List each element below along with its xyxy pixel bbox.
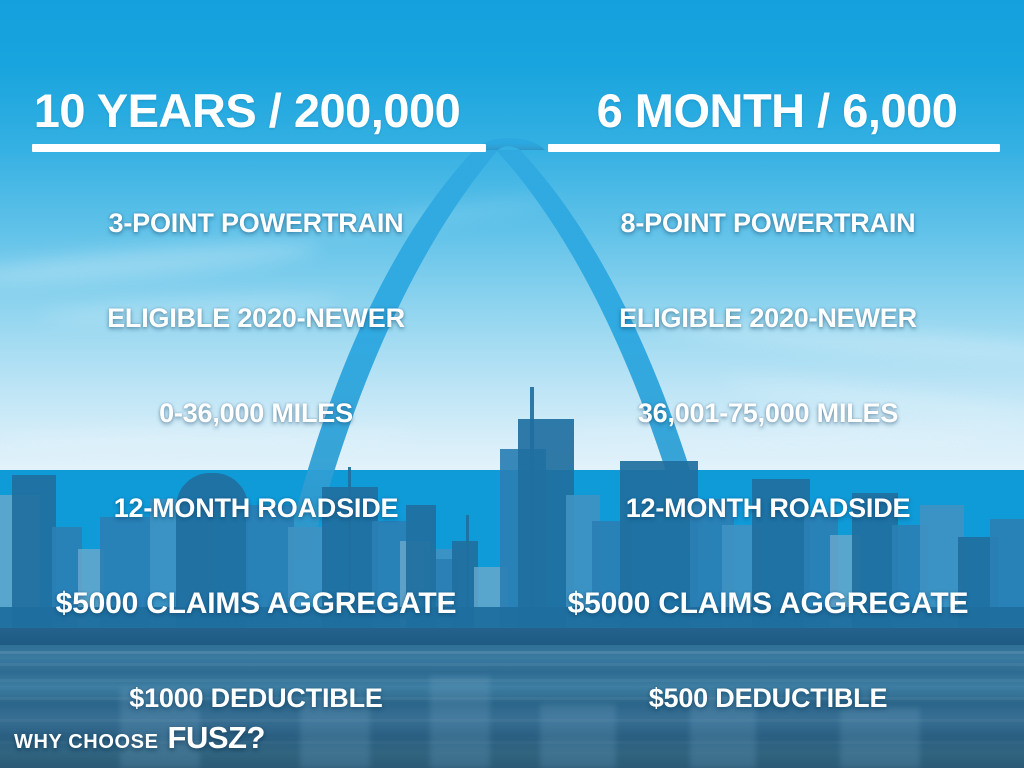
feature-right-4: 12-MONTH ROADSIDE (512, 461, 1024, 556)
plan-headers: 10 YEARS / 200,000 6 MONTH / 6,000 (0, 86, 1024, 156)
slide-content: 10 YEARS / 200,000 6 MONTH / 6,000 3-POI… (0, 0, 1024, 768)
feature-right-1: 8-POINT POWERTRAIN (512, 176, 1024, 271)
plan-header-6-month: 6 MONTH / 6,000 (512, 86, 1024, 156)
plan-header-10-year: 10 YEARS / 200,000 (0, 86, 512, 156)
plan-title-left: 10 YEARS / 200,000 (0, 86, 512, 136)
brand-prefix: WHY CHOOSE (14, 731, 159, 754)
plan-title-underline-right (548, 144, 1000, 152)
feature-right-2: ELIGIBLE 2020-NEWER (512, 271, 1024, 366)
brand-name: FUSZ? (168, 720, 265, 756)
feature-left-4: 12-MONTH ROADSIDE (0, 461, 512, 556)
feature-right-6: $500 DEDUCTIBLE (512, 651, 1024, 746)
plan-title-underline-left (32, 144, 486, 152)
feature-right-3: 36,001-75,000 MILES (512, 366, 1024, 461)
feature-left-5: $5000 CLAIMS AGGREGATE (0, 556, 512, 651)
feature-right-5: $5000 CLAIMS AGGREGATE (512, 556, 1024, 651)
brand-lockup: WHY CHOOSE FUSZ? (14, 720, 265, 756)
plan-feature-grid: 3-POINT POWERTRAIN 8-POINT POWERTRAIN EL… (0, 176, 1024, 716)
feature-left-3: 0-36,000 MILES (0, 366, 512, 461)
slide-canvas: 10 YEARS / 200,000 6 MONTH / 6,000 3-POI… (0, 0, 1024, 768)
feature-left-1: 3-POINT POWERTRAIN (0, 176, 512, 271)
plan-title-right: 6 MONTH / 6,000 (512, 86, 1024, 136)
feature-left-2: ELIGIBLE 2020-NEWER (0, 271, 512, 366)
